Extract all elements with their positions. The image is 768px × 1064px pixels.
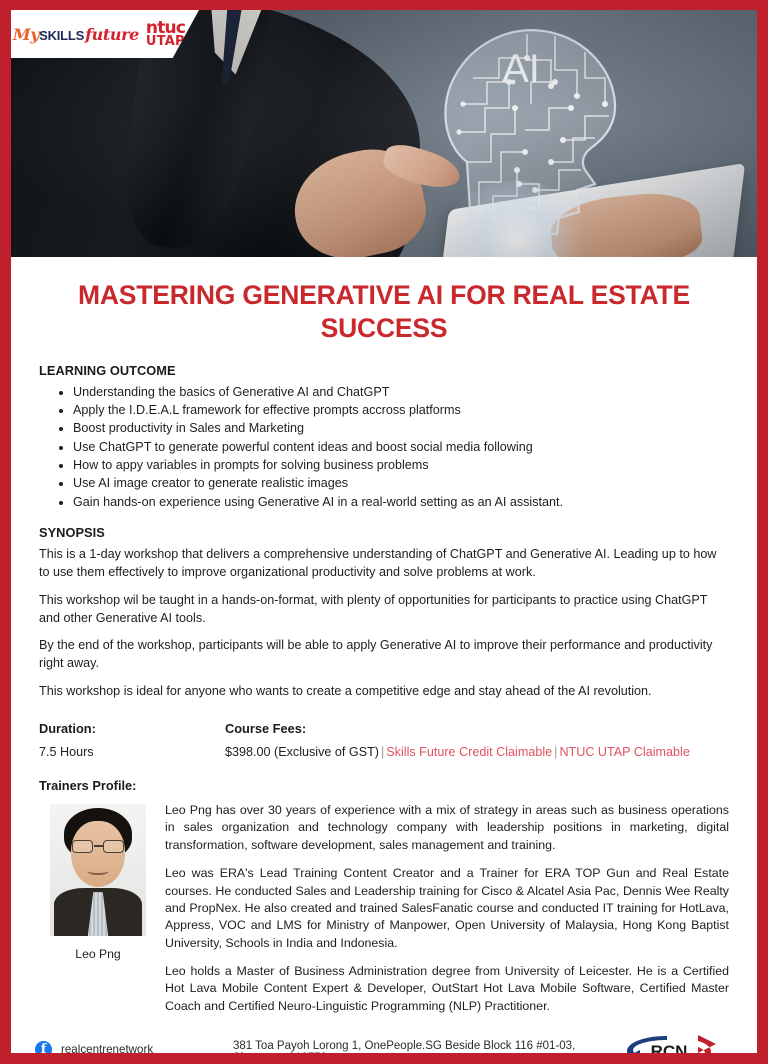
- skillsfuture-claim-link[interactable]: Skills Future Credit Claimable: [386, 745, 552, 759]
- course-fees-label: Course Fees:: [225, 721, 729, 736]
- trainer-portrait-photo: [50, 804, 146, 936]
- learning-outcome-list: Understanding the basics of Generative A…: [73, 383, 729, 511]
- portrait-smile-shape: [87, 867, 109, 875]
- trainer-profile-section: Leo Png Leo Png has over 30 years of exp…: [39, 800, 729, 1015]
- list-item: Use AI image creator to generate realist…: [73, 474, 729, 492]
- list-item: Boost productivity in Sales and Marketin…: [73, 419, 729, 437]
- utap-claim-link[interactable]: NTUC UTAP Claimable: [559, 745, 689, 759]
- myskillsfuture-logo: MySKILLSfuture: [13, 25, 139, 44]
- course-fees-block: Course Fees: $398.00 (Exclusive of GST)|…: [225, 721, 729, 759]
- rcn-wordmark: RCN: [651, 1042, 688, 1053]
- partner-logos: MySKILLSfuture ntuc UTAP: [11, 10, 199, 58]
- duration-label: Duration:: [39, 721, 225, 736]
- glasses-right-lens: [103, 840, 124, 853]
- list-item: Understanding the basics of Generative A…: [73, 383, 729, 401]
- learning-outcome-heading: LEARNING OUTCOME: [39, 363, 729, 378]
- synopsis-paragraph: This workshop wil be taught in a hands-o…: [39, 592, 729, 628]
- portrait-glasses-shape: [71, 840, 125, 853]
- office-address: 381 Toa Payoh Lorong 1, OnePeople.SG Bes…: [233, 1040, 605, 1053]
- msf-my-text: My: [13, 25, 39, 44]
- facebook-handle[interactable]: realcentrenetwork: [61, 1043, 153, 1053]
- synopsis-paragraph: This is a 1-day workshop that delivers a…: [39, 546, 729, 582]
- rcn-logo-block: RCN YOUR PREFERRED TRAINING PROVIDER: [605, 1029, 733, 1053]
- duration-block: Duration: 7.5 Hours: [39, 721, 225, 759]
- trainer-name-caption: Leo Png: [45, 947, 151, 961]
- trainers-profile-heading: Trainers Profile:: [39, 778, 729, 793]
- flyer-page: AI MySKILLSfuture ntuc UTAP MASTERING GE…: [0, 0, 768, 1064]
- duration-value: 7.5 Hours: [39, 745, 225, 759]
- glasses-bridge: [94, 845, 103, 847]
- learning-outcome-section: LEARNING OUTCOME Understanding the basic…: [39, 363, 729, 511]
- content-area: MASTERING GENERATIVE AI FOR REAL ESTATE …: [11, 257, 757, 1015]
- fees-section: Duration: 7.5 Hours Course Fees: $398.00…: [39, 721, 729, 759]
- flyer-sheet: AI MySKILLSfuture ntuc UTAP MASTERING GE…: [11, 10, 757, 1053]
- course-price: $398.00 (Exclusive of GST): [225, 745, 379, 759]
- footer: realcentrenetwork realcentrenetworksg 38…: [11, 1015, 757, 1053]
- msf-future-text: future: [85, 25, 139, 44]
- facebook-row[interactable]: realcentrenetwork: [35, 1041, 225, 1053]
- facebook-icon[interactable]: [35, 1041, 52, 1053]
- portrait-face-shape: [71, 821, 125, 887]
- list-item: Gain hands-on experience using Generativ…: [73, 493, 729, 511]
- synopsis-heading: SYNOPSIS: [39, 525, 729, 540]
- msf-skills-text: SKILLS: [39, 28, 84, 43]
- footer-social-block: realcentrenetwork realcentrenetworksg: [35, 1041, 225, 1053]
- trainer-bio-paragraph: Leo was ERA's Lead Training Content Crea…: [165, 865, 729, 952]
- glasses-left-lens: [72, 840, 93, 853]
- trainer-bio-paragraph: Leo Png has over 30 years of experience …: [165, 802, 729, 854]
- synopsis-paragraph: This workshop is ideal for anyone who wa…: [39, 683, 729, 701]
- page-title: MASTERING GENERATIVE AI FOR REAL ESTATE …: [39, 279, 729, 346]
- hero-banner-image: AI MySKILLSfuture ntuc UTAP: [11, 10, 757, 257]
- list-item: Use ChatGPT to generate powerful content…: [73, 438, 729, 456]
- trainer-bio: Leo Png has over 30 years of experience …: [165, 800, 729, 1015]
- rcn-logo-icon: RCN: [613, 1029, 725, 1053]
- utap-text: UTAP: [146, 36, 185, 47]
- synopsis-paragraph: By the end of the workshop, participants…: [39, 637, 729, 673]
- ntuc-utap-logo: ntuc UTAP: [146, 21, 185, 47]
- footer-contact-block: 381 Toa Payoh Lorong 1, OnePeople.SG Bes…: [225, 1040, 605, 1053]
- course-fees-value: $398.00 (Exclusive of GST)|Skills Future…: [225, 745, 729, 759]
- list-item: Apply the I.D.E.A.L framework for effect…: [73, 401, 729, 419]
- synopsis-section: SYNOPSIS This is a 1-day workshop that d…: [39, 525, 729, 701]
- trainer-bio-paragraph: Leo holds a Master of Business Administr…: [165, 963, 729, 1015]
- list-item: How to appy variables in prompts for sol…: [73, 456, 729, 474]
- trainer-photo-column: Leo Png: [39, 800, 151, 1015]
